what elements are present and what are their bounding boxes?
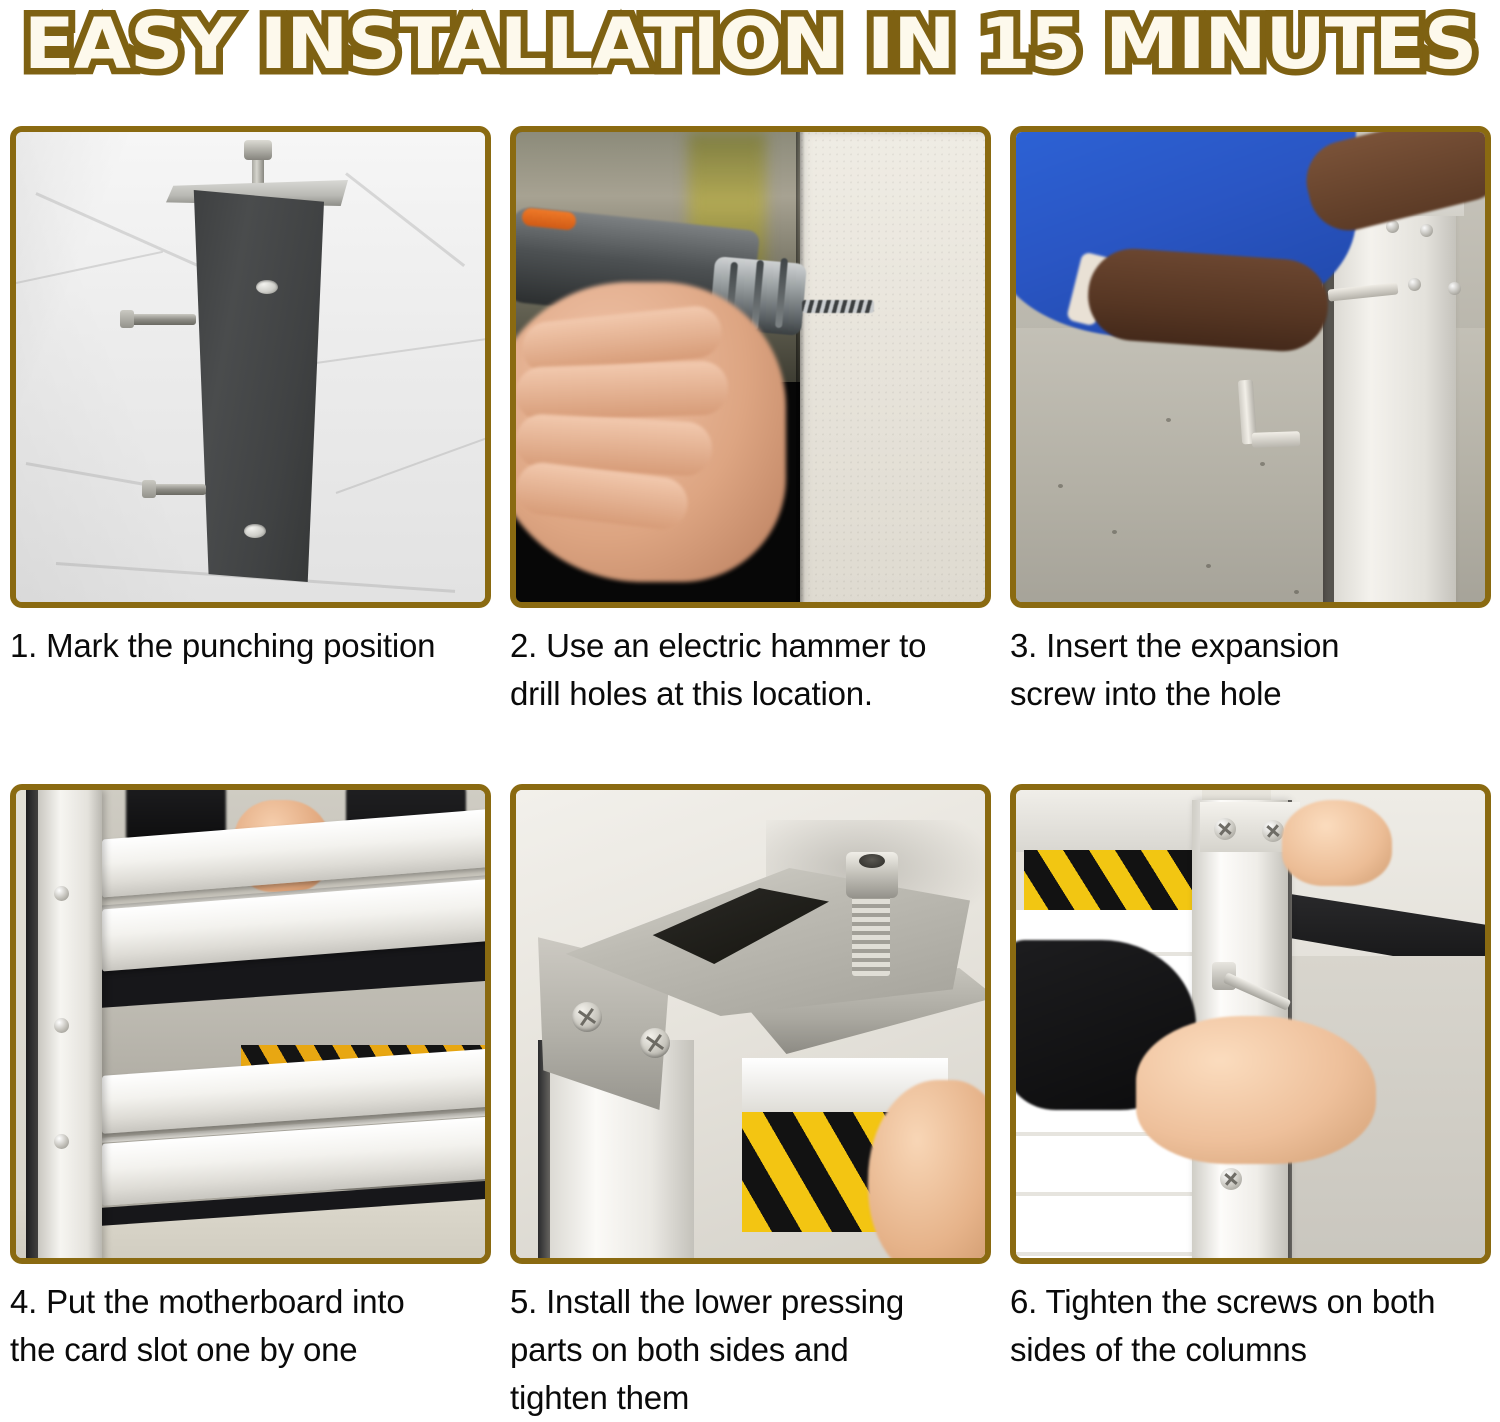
- caption-line: 6. Tighten the screws on both: [1010, 1278, 1490, 1326]
- caption-line: screw into the hole: [1010, 670, 1490, 718]
- bracket-screw-2: [640, 1028, 670, 1058]
- drill-bit: [802, 300, 874, 313]
- top-barrier-board: [1016, 790, 1202, 852]
- photo-drilling-wall: [516, 132, 985, 602]
- wall-edge-shadow: [796, 132, 805, 602]
- textured-wall: [800, 132, 985, 602]
- white-column-post: [38, 790, 102, 1258]
- post-screw-3: [54, 1134, 69, 1149]
- column-screw-top-left: [1214, 818, 1236, 840]
- hazard-stripe-tape: [1024, 850, 1194, 912]
- bolt-threaded-shaft: [852, 890, 890, 976]
- column-screw-3: [1408, 278, 1421, 291]
- step-caption-5: 5. Install the lower pressing parts on b…: [510, 1278, 990, 1422]
- step-photo-frame-5: [510, 784, 991, 1264]
- hex-key-horizontal: [1252, 431, 1300, 448]
- caption-line: 5. Install the lower pressing: [510, 1278, 990, 1326]
- bolt-hex-socket: [859, 854, 885, 868]
- caption-line: sides of the columns: [1010, 1326, 1490, 1374]
- step-card-4: 4. Put the motherboard into the card slo…: [0, 780, 500, 1403]
- post-screw-2: [54, 1018, 69, 1033]
- photo-insert-expansion-screw: [1016, 132, 1485, 602]
- step-card-3: 3. Insert the expansion screw into the h…: [1000, 122, 1500, 780]
- stud-cap-upper: [120, 310, 134, 328]
- photo-column-base-plate: [16, 132, 485, 602]
- title-banner: EASY INSTALLATION IN 15 MINUTES: [0, 0, 1500, 120]
- forearm-hand: [1085, 246, 1331, 355]
- column-screw-2: [1420, 224, 1433, 237]
- step-photo-frame-2: [510, 126, 991, 608]
- column-screw-top-right: [1262, 820, 1284, 842]
- photo-tighten-column-screws: [1016, 790, 1485, 1258]
- step-caption-4: 4. Put the motherboard into the card slo…: [10, 1278, 490, 1374]
- caption-line: 3. Insert the expansion: [1010, 622, 1490, 670]
- step-card-5: 5. Install the lower pressing parts on b…: [500, 780, 1000, 1403]
- caption-line: 4. Put the motherboard into: [10, 1278, 490, 1326]
- column-screw-bottom: [1220, 1168, 1242, 1190]
- base-plate: [176, 190, 324, 582]
- hand-steadying-column: [1282, 800, 1392, 886]
- step-card-2: 2. Use an electric hammer to drill holes…: [500, 122, 1000, 780]
- step-photo-frame-3: [1010, 126, 1491, 608]
- step-caption-3: 3. Insert the expansion screw into the h…: [1010, 622, 1490, 718]
- marking-hole-lower: [244, 524, 266, 538]
- stud-cap-lower: [142, 480, 156, 498]
- hand-with-screwdriver: [1136, 1016, 1376, 1164]
- step-photo-frame-6: [1010, 784, 1491, 1264]
- post-screw-1: [54, 886, 69, 901]
- stud-lower: [148, 484, 206, 495]
- caption-line: drill holes at this location.: [510, 670, 990, 718]
- step-caption-1: 1. Mark the punching position: [10, 622, 490, 670]
- bracket-screw-1: [572, 1002, 602, 1032]
- caption-line: tighten them: [510, 1374, 990, 1422]
- marking-hole-upper: [256, 280, 278, 294]
- caption-line: the card slot one by one: [10, 1326, 490, 1374]
- step-caption-6: 6. Tighten the screws on both sides of t…: [1010, 1278, 1490, 1374]
- photo-lower-pressing-part: [516, 790, 985, 1258]
- step-card-1: 1. Mark the punching position: [0, 122, 500, 780]
- step-card-6: 6. Tighten the screws on both sides of t…: [1000, 780, 1500, 1403]
- caption-line: 2. Use an electric hammer to: [510, 622, 990, 670]
- caption-line: 1. Mark the punching position: [10, 622, 490, 670]
- top-bolt-head: [244, 140, 272, 160]
- column-screw-4: [1448, 282, 1461, 295]
- step-photo-frame-4: [10, 784, 491, 1264]
- caption-line: parts on both sides and: [510, 1326, 990, 1374]
- step-photo-frame-1: [10, 126, 491, 608]
- installation-steps-grid: 1. Mark the punching position: [0, 122, 1500, 1403]
- page-title: EASY INSTALLATION IN 15 MINUTES: [24, 5, 1476, 83]
- photo-boards-into-card-slot: [16, 790, 485, 1258]
- stud-upper: [126, 314, 196, 325]
- column-screw-1: [1386, 220, 1399, 233]
- step-caption-2: 2. Use an electric hammer to drill holes…: [510, 622, 990, 718]
